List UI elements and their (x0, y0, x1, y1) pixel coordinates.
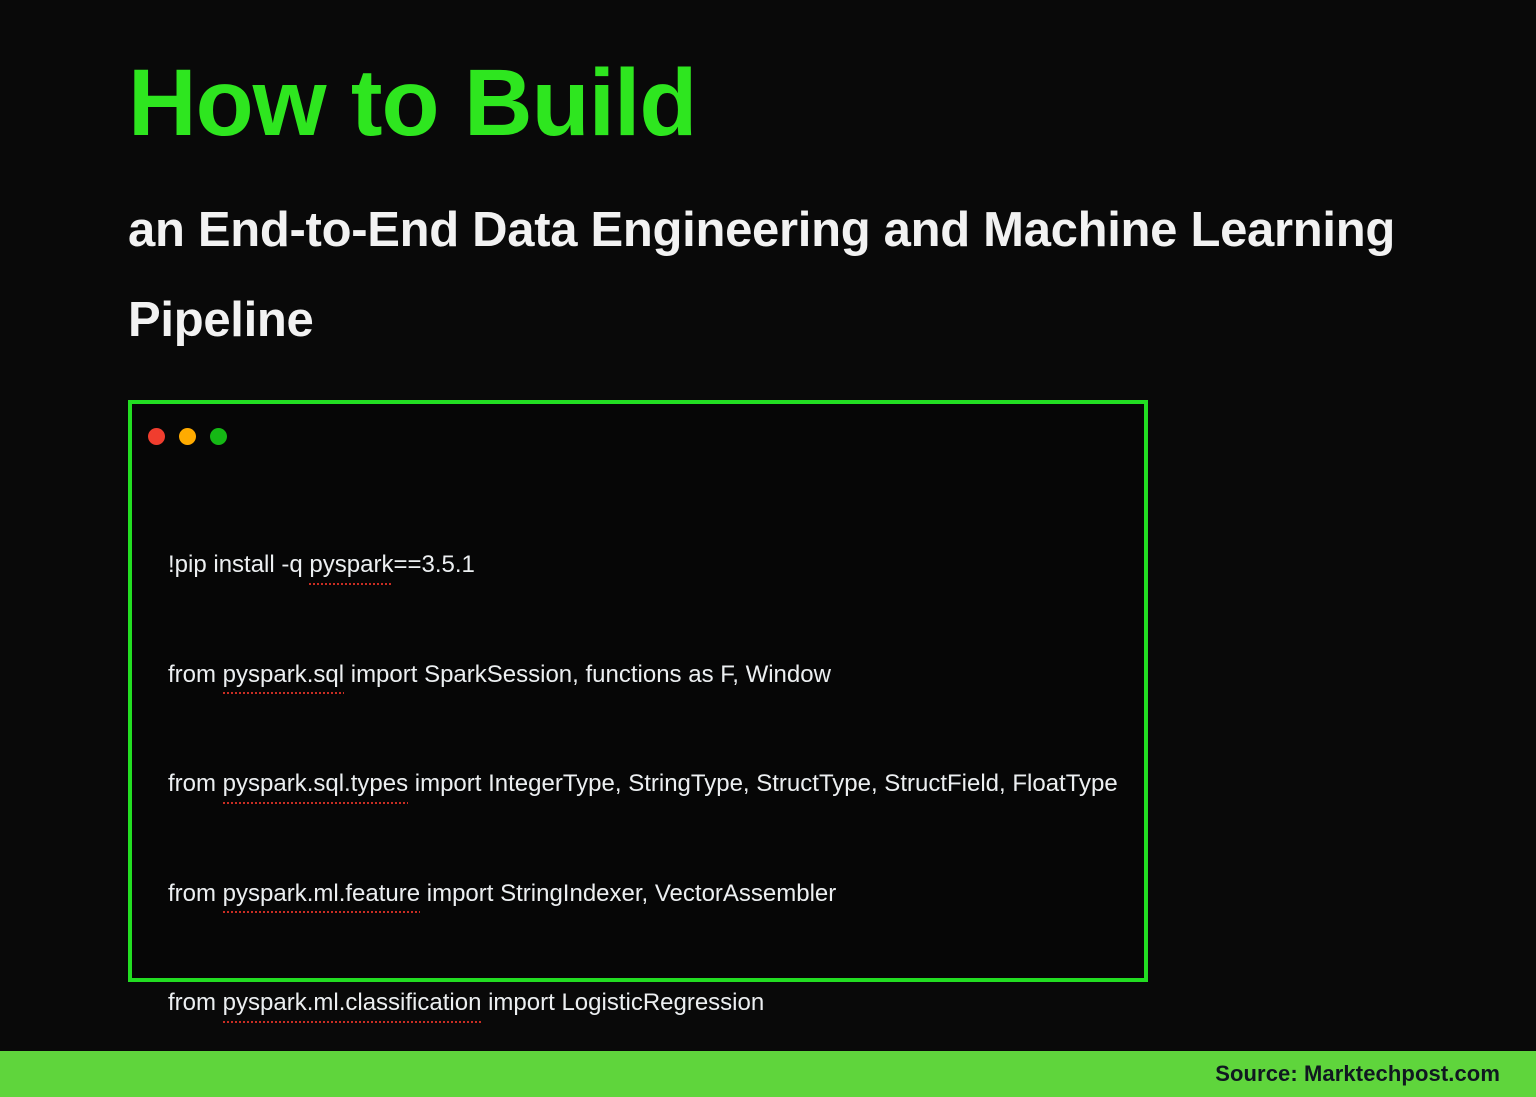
code-window-titlebar (132, 404, 1144, 448)
source-attribution: Source: Marktechpost.com (1215, 1061, 1536, 1087)
code-line: from pyspark.sql.types import IntegerTyp… (168, 766, 1144, 803)
code-line: from pyspark.ml.feature import StringInd… (168, 876, 1144, 913)
page-title: How to Build (128, 52, 1448, 155)
code-window: !pip install -q pyspark==3.5.1 from pysp… (128, 400, 1148, 982)
footer-bar: Source: Marktechpost.com (0, 1051, 1536, 1097)
code-line: !pip install -q pyspark==3.5.1 (168, 547, 1144, 584)
page-subtitle: an End-to-End Data Engineering and Machi… (128, 155, 1448, 366)
code-line: from pyspark.ml.classification import Lo… (168, 985, 1144, 1022)
maximize-window-icon[interactable] (210, 428, 227, 445)
slide-canvas: How to Build an End-to-End Data Engineer… (0, 0, 1536, 1097)
code-block: !pip install -q pyspark==3.5.1 from pysp… (132, 448, 1144, 1097)
code-line: from pyspark.sql import SparkSession, fu… (168, 657, 1144, 694)
minimize-window-icon[interactable] (179, 428, 196, 445)
close-window-icon[interactable] (148, 428, 165, 445)
headline-block: How to Build an End-to-End Data Engineer… (128, 52, 1448, 366)
